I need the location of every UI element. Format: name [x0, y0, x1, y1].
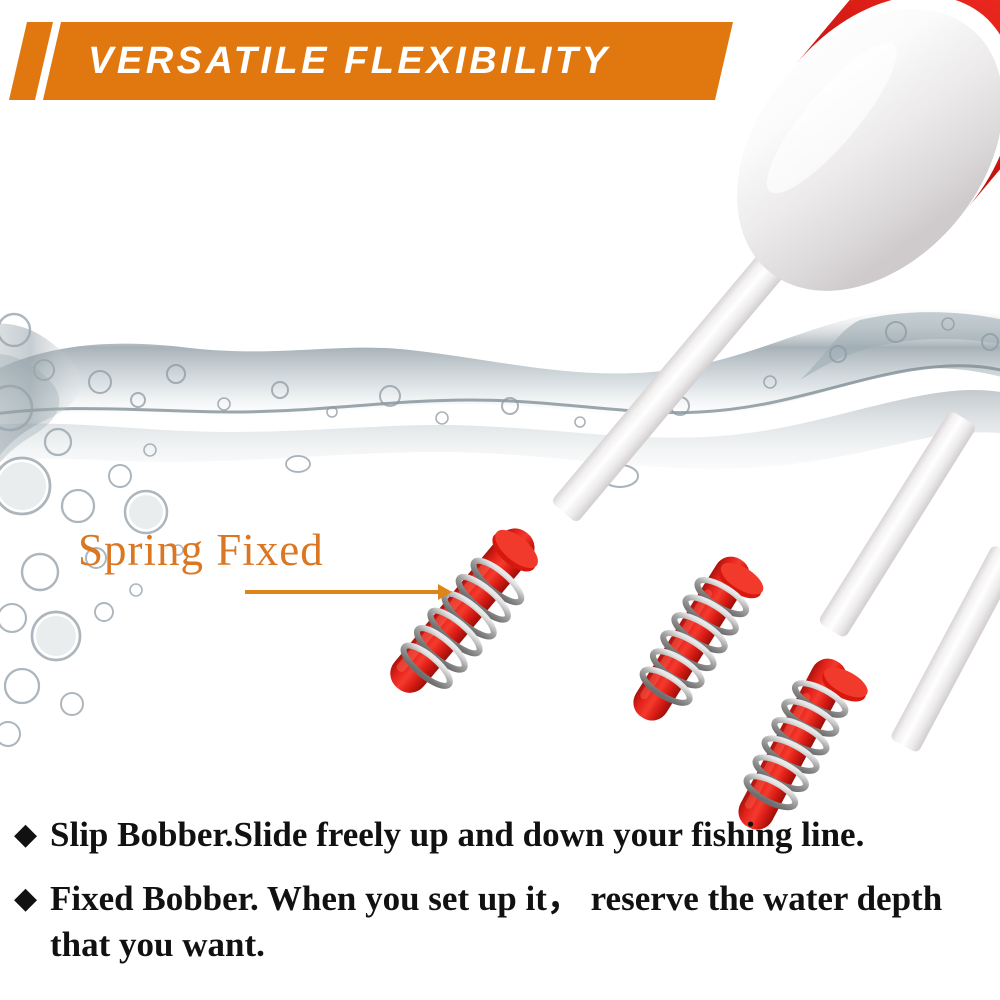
- water-bubbles: [89, 318, 998, 487]
- header-banner: VERSATILE FLEXIBILITY: [0, 22, 760, 100]
- water-left-turbulence: [0, 324, 80, 500]
- bobber-main: [383, 0, 1000, 700]
- bobber-second-stem: [818, 410, 978, 639]
- list-item: ◆ Slip Bobber.Slide freely up and down y…: [0, 812, 1000, 858]
- product-feature-image: VERSATILE FLEXIBILITY: [0, 0, 1000, 1000]
- list-item-text: Slip Bobber.Slide freely up and down you…: [50, 812, 1000, 858]
- callout-pointer-line: [245, 590, 445, 594]
- list-item: ◆ Fixed Bobber. When you set up it， rese…: [0, 876, 1000, 968]
- water-foam-band: [0, 390, 1000, 469]
- feature-bullet-list: ◆ Slip Bobber.Slide freely up and down y…: [0, 812, 1000, 986]
- water-left-turbulence-2: [0, 354, 59, 506]
- diamond-bullet-icon: ◆: [14, 876, 50, 922]
- bobber-second-red-tip: [627, 550, 756, 727]
- float-yellow-top: [851, 0, 1000, 143]
- water-surface-line: [0, 366, 1000, 416]
- banner-title: VERSATILE FLEXIBILITY: [88, 22, 611, 100]
- water-right-crest: [800, 312, 1000, 380]
- bobber-second-spring: [636, 573, 751, 710]
- callout-label: Spring Fixed: [78, 524, 324, 576]
- bobber-main-collar: [486, 523, 544, 579]
- diamond-bullet-icon: ◆: [14, 812, 50, 858]
- bobber-third-stem: [890, 544, 1000, 753]
- bobber-third-red-tip: [732, 653, 852, 836]
- bobber-third-collar: [817, 661, 872, 707]
- water-splash-graphic: [0, 286, 1000, 516]
- float-specular-highlight: [750, 28, 913, 209]
- arrow-right-icon: [438, 584, 452, 600]
- water-crest: [0, 307, 1000, 422]
- float-red-band: [796, 0, 1000, 208]
- bobber-second-collar: [713, 557, 768, 605]
- bobber-third: [732, 544, 1000, 835]
- bobber-main-stem: [551, 249, 789, 524]
- water-splash-svg: [0, 286, 1000, 516]
- bobber-third-spring: [741, 677, 851, 815]
- list-item-text: Fixed Bobber. When you set up it， reserv…: [50, 876, 1000, 968]
- spring-fixed-callout: Spring Fixed: [70, 524, 470, 614]
- bobber-second: [627, 410, 977, 727]
